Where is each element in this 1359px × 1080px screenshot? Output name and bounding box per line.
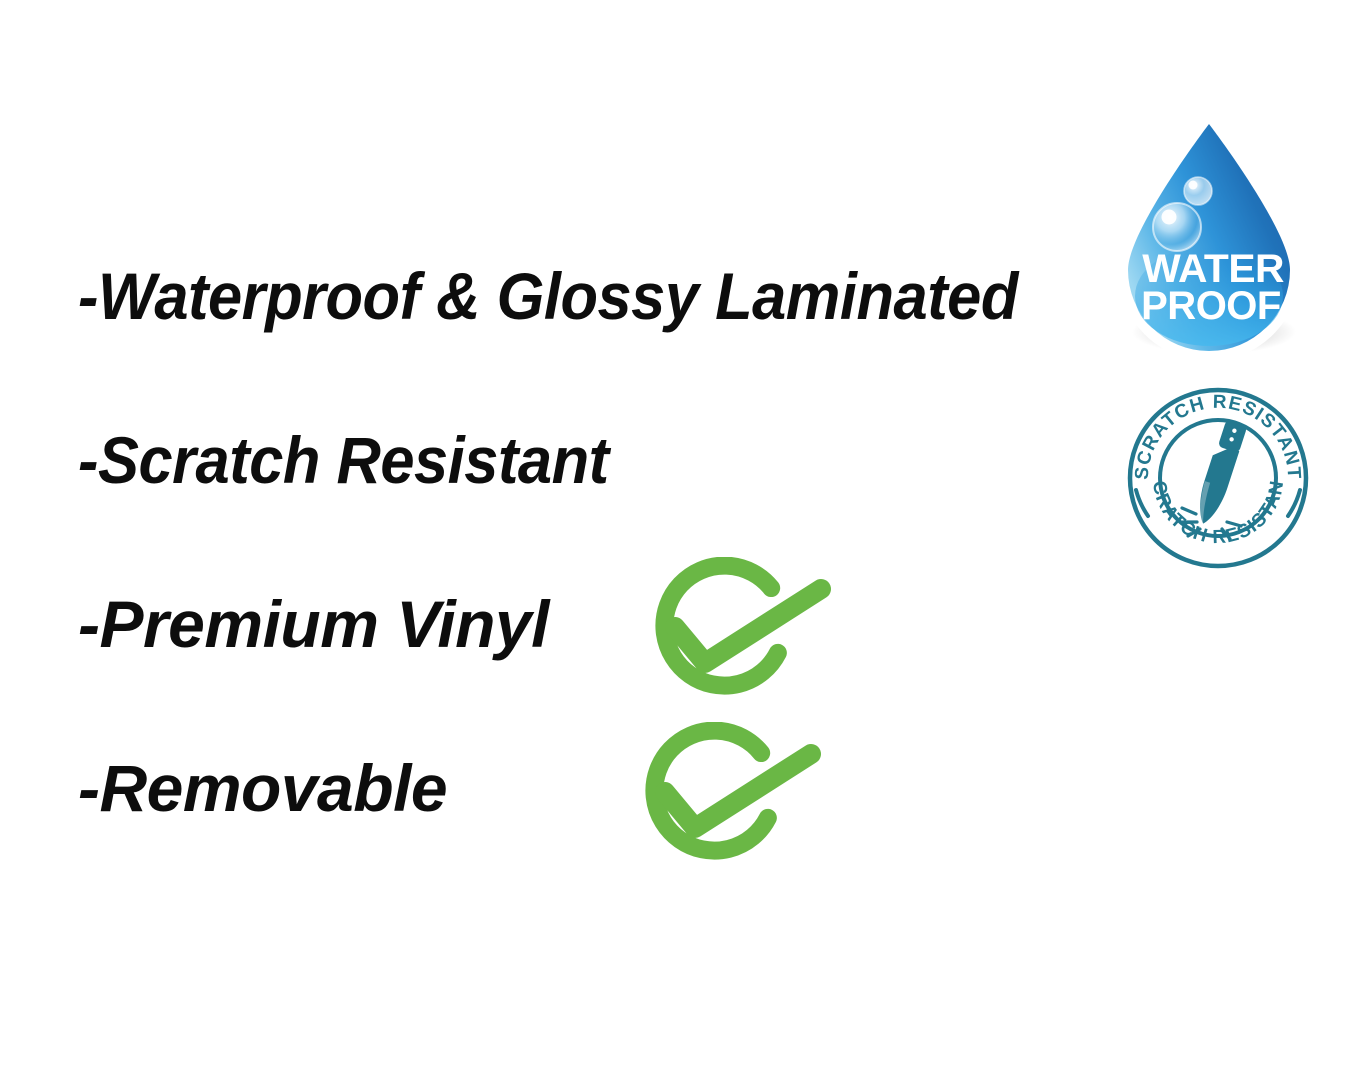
check-stroke [675,589,821,663]
check-circle-icon-premium-vinyl [643,557,839,707]
feature-item-waterproof-glossy-laminated: -Waterproof & Glossy Laminated [78,258,1018,334]
water-bubble-small [1184,177,1212,205]
waterproof-label-line2: PROOF [1141,284,1281,328]
waterproof-badge: WATER PROOF [1104,110,1318,358]
scratch-resistant-badge: SCRATCH RESISTANT SCRATCH RESISTANT [1126,386,1310,570]
feature-item-premium-vinyl: -Premium Vinyl [78,586,549,662]
water-bubble-large [1153,203,1201,251]
check-stroke [665,754,811,828]
knife-icon [1192,419,1248,527]
feature-item-scratch-resistant: -Scratch Resistant [78,422,609,498]
water-bubble-small-highlight [1189,181,1198,190]
feature-item-removable: -Removable [78,750,447,826]
check-circle-icon-removable [633,722,829,872]
water-bubble-large-highlight [1162,210,1177,225]
feature-graphic: -Waterproof & Glossy Laminated -Scratch … [0,0,1359,1080]
